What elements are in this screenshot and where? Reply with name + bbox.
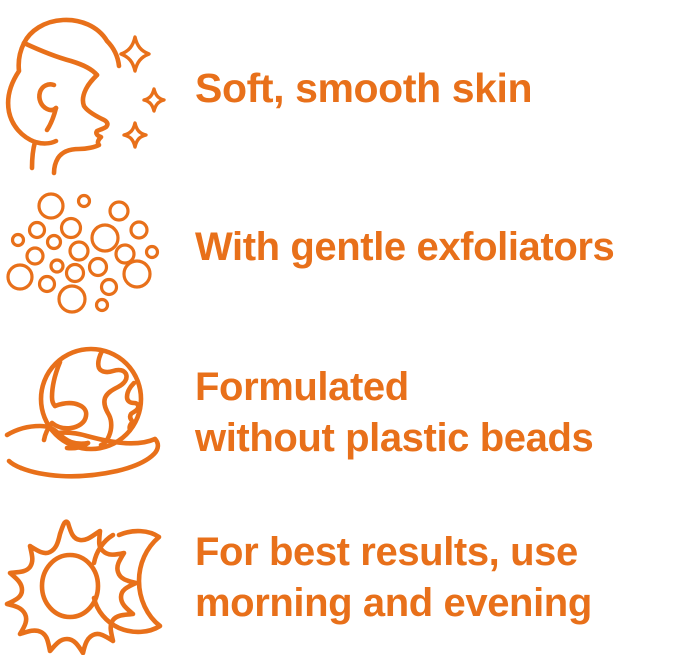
face-profile-sparkles-icon (0, 13, 164, 163)
benefit-label: Soft, smooth skin (195, 62, 532, 114)
benefit-label: Formulated without plastic beads (195, 362, 593, 464)
benefit-row: For best results, use morning and evenin… (0, 500, 679, 655)
benefit-label: For best results, use morning and evenin… (195, 527, 592, 629)
benefit-text-cell: Formulated without plastic beads (195, 362, 679, 464)
benefit-text-cell: With gentle exfoliators (195, 222, 679, 273)
benefit-label: With gentle exfoliators (195, 222, 614, 273)
sun-and-moon-icon (7, 519, 167, 637)
micro-beads-bubbles-icon (9, 188, 159, 308)
benefit-icon-cell (0, 519, 195, 637)
benefit-icon-cell (0, 343, 195, 483)
benefit-row: Soft, smooth skin (0, 0, 679, 170)
benefit-text-cell: For best results, use morning and evenin… (195, 527, 679, 629)
benefit-list: Soft, smooth skin (0, 0, 679, 655)
hand-holding-globe-icon (3, 343, 171, 483)
benefit-row: With gentle exfoliators (0, 170, 679, 325)
benefit-text-cell: Soft, smooth skin (195, 62, 679, 114)
benefit-icon-cell (0, 188, 195, 308)
benefit-icon-cell (0, 13, 195, 163)
benefit-row: Formulated without plastic beads (0, 325, 679, 500)
